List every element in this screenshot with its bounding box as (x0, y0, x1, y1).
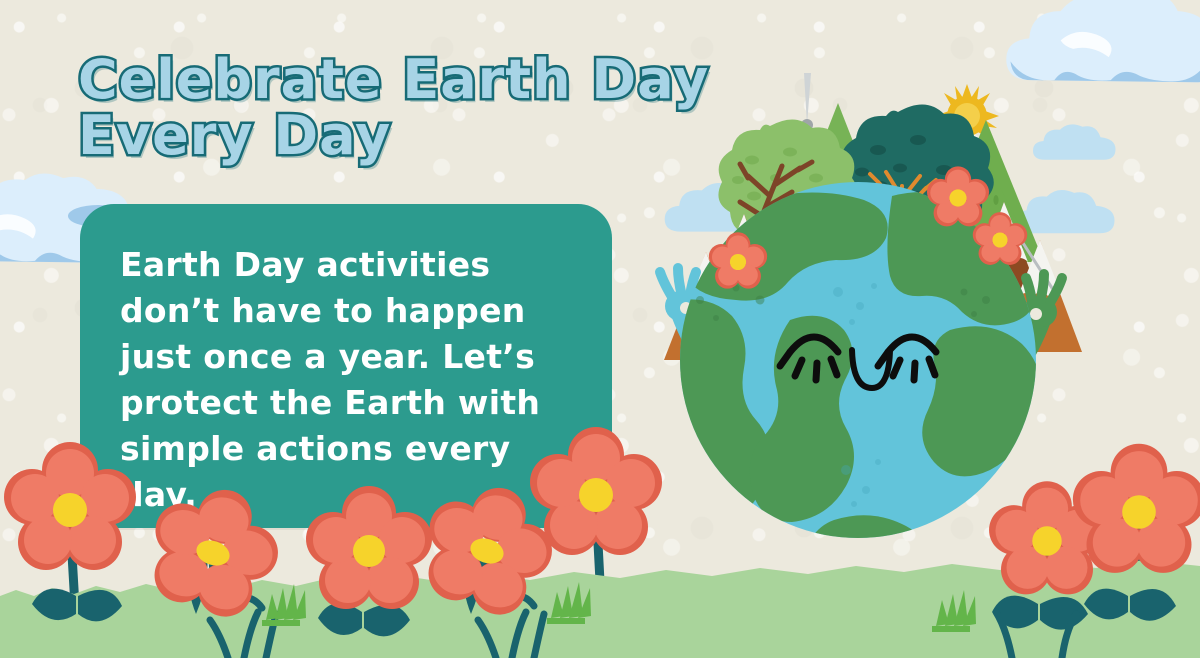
ground-flower-5 (530, 427, 662, 555)
foreground-layer (0, 0, 1200, 658)
ground-flower-3 (306, 486, 432, 609)
ground-flower-7 (1073, 444, 1200, 573)
earth-day-poster: Celebrate Earth Day Every Day Earth Day … (0, 0, 1200, 658)
ground-flower-1 (4, 442, 136, 570)
